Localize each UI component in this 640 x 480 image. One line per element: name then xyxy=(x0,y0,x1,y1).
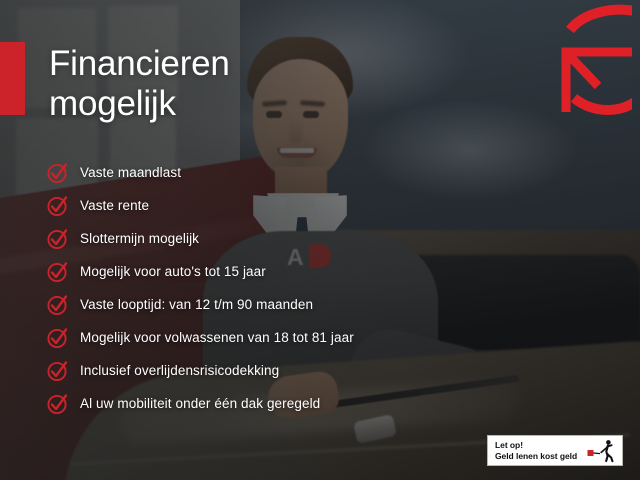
list-item: Mogelijk voor auto's tot 15 jaar xyxy=(46,255,354,288)
warning-text: Let op! Geld lenen kost geld xyxy=(495,440,587,461)
list-item: Inclusief overlijdensrisicodekking xyxy=(46,354,354,387)
list-item: Vaste rente xyxy=(46,189,354,222)
check-circle-icon xyxy=(46,326,70,350)
check-circle-icon xyxy=(46,293,70,317)
feature-list: Vaste maandlast Vaste rente xyxy=(46,156,354,420)
status-badge: Let op! Geld lenen kost geld xyxy=(487,435,623,466)
list-item-label: Inclusief overlijdensrisicodekking xyxy=(80,363,279,378)
check-circle-icon xyxy=(46,359,70,383)
banner-content: Financieren mogelijk Vaste maandlast xyxy=(0,0,640,480)
red-accent-block xyxy=(0,42,25,115)
list-item: Vaste maandlast xyxy=(46,156,354,189)
check-circle-icon xyxy=(46,161,70,185)
list-item: Mogelijk voor volwassenen van 18 tot 81 … xyxy=(46,321,354,354)
list-item-label: Slottermijn mogelijk xyxy=(80,231,199,246)
list-item-label: Mogelijk voor volwassenen van 18 tot 81 … xyxy=(80,330,354,345)
list-item-label: Vaste rente xyxy=(80,198,149,213)
page-title: Financieren mogelijk xyxy=(49,44,230,124)
financing-promo-banner: A Financieren mogelijk xyxy=(0,0,640,480)
list-item: Vaste looptijd: van 12 t/m 90 maanden xyxy=(46,288,354,321)
list-item: Al uw mobiliteit onder één dak geregeld xyxy=(46,387,354,420)
list-item-label: Vaste maandlast xyxy=(80,165,181,180)
red-circular-arrow-icon xyxy=(540,2,632,130)
check-circle-icon xyxy=(46,260,70,284)
check-circle-icon xyxy=(46,194,70,218)
list-item-label: Al uw mobiliteit onder één dak geregeld xyxy=(80,396,320,411)
walking-person-pulling-block-icon xyxy=(587,439,617,463)
list-item-label: Vaste looptijd: van 12 t/m 90 maanden xyxy=(80,297,313,312)
check-circle-icon xyxy=(46,227,70,251)
check-circle-icon xyxy=(46,392,70,416)
list-item: Slottermijn mogelijk xyxy=(46,222,354,255)
list-item-label: Mogelijk voor auto's tot 15 jaar xyxy=(80,264,266,279)
